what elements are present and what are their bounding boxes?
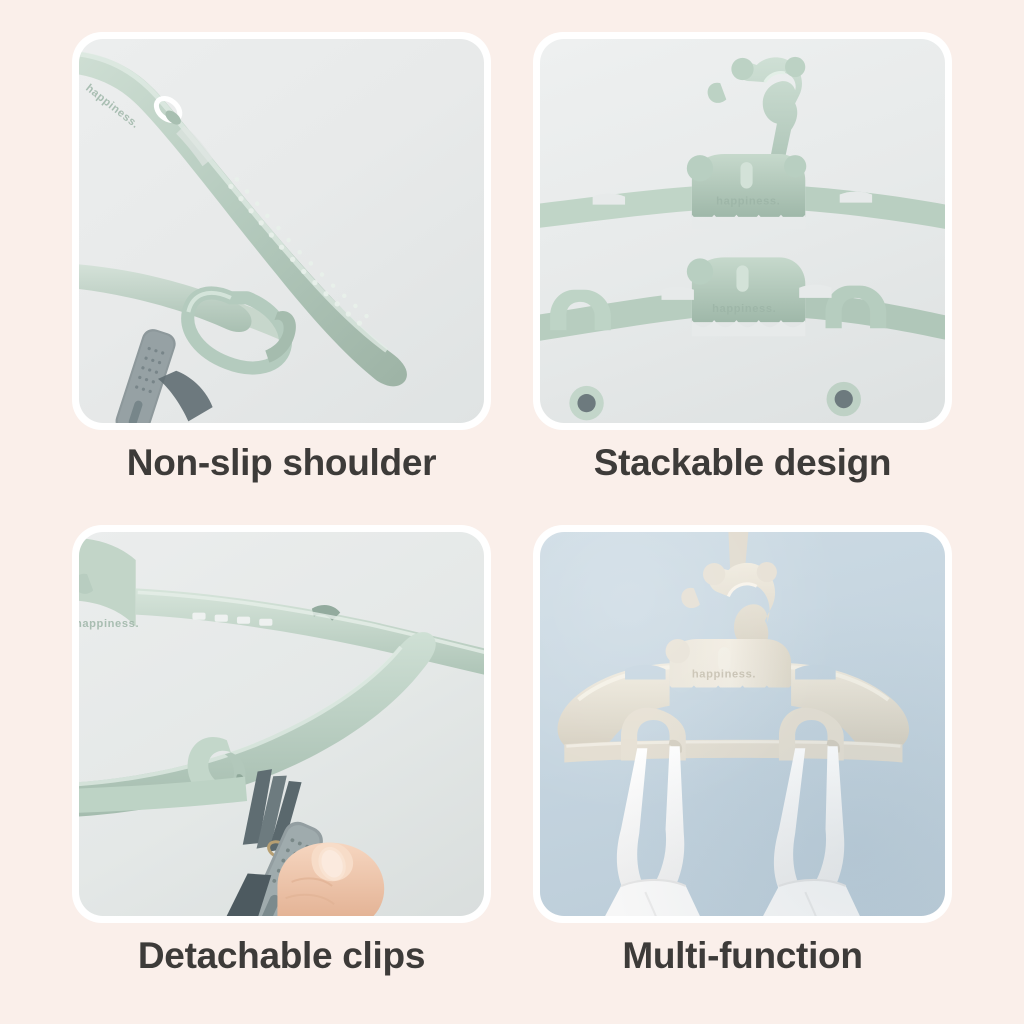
product-photo-detachable-clips: happiness. xyxy=(79,532,484,916)
bear-hook-cream xyxy=(681,562,777,665)
feature-caption-multi-function: Multi-function xyxy=(622,937,862,976)
product-photo-non-slip-shoulder: happiness. xyxy=(79,39,484,423)
feature-caption-detachable-clips: Detachable clips xyxy=(138,937,425,976)
center-plate-front: happiness. xyxy=(687,257,805,336)
feature-card-detachable-clips[interactable]: happiness. xyxy=(72,525,491,923)
strap-hook-left xyxy=(621,708,686,761)
hanger-shoulder-illustration: happiness. xyxy=(79,39,484,423)
feature-card-multi-function[interactable]: happiness. xyxy=(533,525,952,923)
emboss-brand-clip-panel: happiness. xyxy=(79,618,139,630)
center-plate-cream: happiness. xyxy=(666,639,792,700)
feature-card-stackable-design[interactable]: happiness. xyxy=(533,32,952,430)
emboss-brand-front: happiness. xyxy=(712,303,776,315)
stacked-hangers-illustration: happiness. xyxy=(540,39,945,423)
feature-non-slip-shoulder[interactable]: happiness. Non-slip shoulder xyxy=(72,32,491,497)
detachable-clip-illustration: happiness. xyxy=(79,532,484,916)
feature-multi-function[interactable]: happiness. xyxy=(533,525,952,990)
product-photo-multi-function: happiness. xyxy=(540,532,945,916)
multifunction-hanger-illustration: happiness. xyxy=(540,532,945,916)
bottom-clips xyxy=(569,382,861,420)
emboss-brand-back: happiness. xyxy=(716,196,780,208)
product-photo-stackable-design: happiness. xyxy=(540,39,945,423)
feature-detachable-clips[interactable]: happiness. xyxy=(72,525,491,990)
feature-caption-non-slip-shoulder: Non-slip shoulder xyxy=(127,444,436,483)
hand xyxy=(277,843,384,916)
feature-card-non-slip-shoulder[interactable]: happiness. xyxy=(72,32,491,430)
feature-stackable-design[interactable]: happiness. xyxy=(533,32,952,497)
camisole-right xyxy=(761,746,862,916)
strap-hook-right xyxy=(779,708,844,761)
emboss-brand-multifunction: happiness. xyxy=(692,668,756,680)
feature-grid: happiness. Non-slip shoulder xyxy=(0,0,1024,1024)
feature-grid-page: happiness. Non-slip shoulder xyxy=(0,0,1024,1024)
center-plate-back: happiness. xyxy=(687,154,806,229)
feature-caption-stackable-design: Stackable design xyxy=(594,444,892,483)
camisole-left xyxy=(603,746,702,916)
